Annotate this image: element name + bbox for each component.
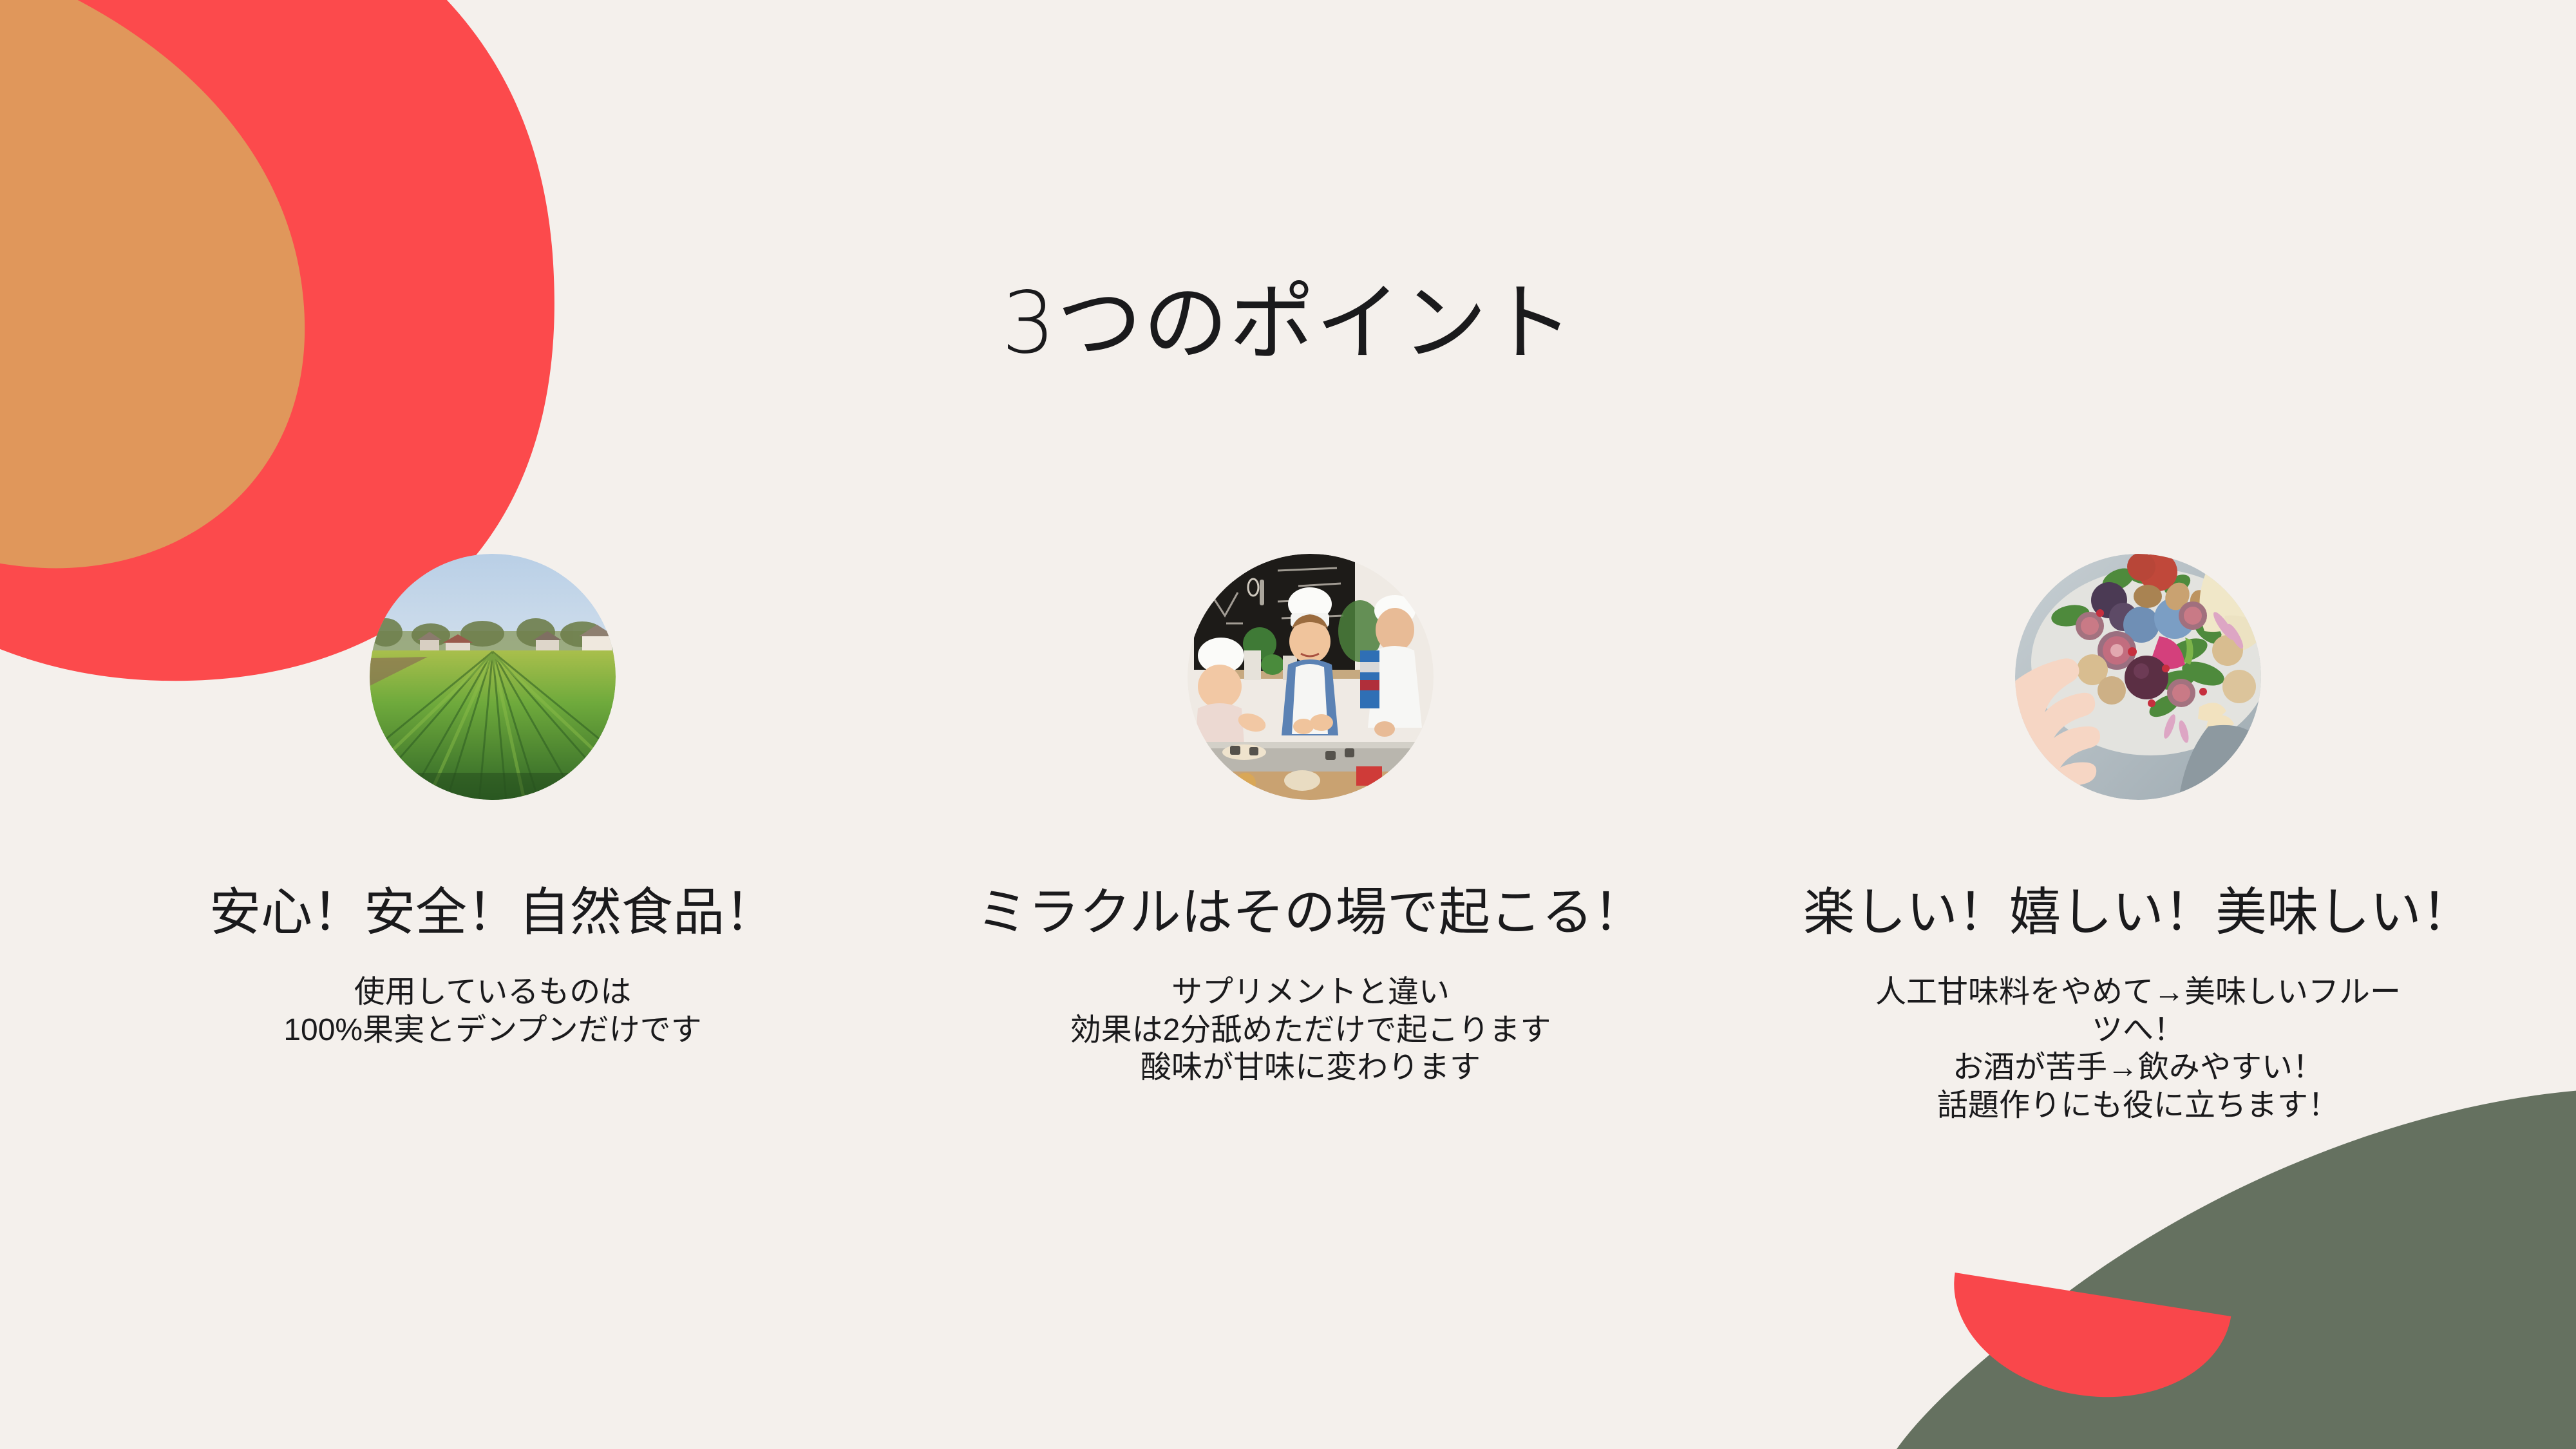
point-column-1: 安心！安全！自然食品！ 使用しているものは 100%果実とデンプンだけです <box>77 554 908 1049</box>
point-body-2: サプリメントと違い 効果は2分舐めただけで起こります 酸味が甘味に変わります <box>1070 974 1551 1087</box>
point-heading-1: 安心！安全！自然食品！ <box>209 882 776 943</box>
points-row: 安心！安全！自然食品！ 使用しているものは 100%果実とデンプンだけです <box>0 554 2576 1125</box>
point-body-line: 使用しているものは <box>283 974 701 1012</box>
children-baking-photo <box>1188 554 1434 800</box>
fruit-platter-photo <box>2015 554 2261 800</box>
point-heading-3: 楽しい！嬉しい！美味しい！ <box>1803 882 2473 943</box>
green-blob-icon <box>1880 1088 2576 1449</box>
point-body-line: 人工甘味料をやめて→美味しいフルー <box>1765 974 2512 1012</box>
red-dome-icon <box>1939 1273 2231 1416</box>
slide-canvas: 3つのポイント <box>0 0 2576 1449</box>
point-column-2: ミラクルはその場で起こる！ サプリメントと違い 効果は2分舐めただけで起こります… <box>908 554 1713 1087</box>
point-body-line: 話題作りにも役に立ちます！ <box>1765 1087 2512 1125</box>
point-body-line: サプリメントと違い <box>1070 974 1551 1012</box>
point-body-1: 使用しているものは 100%果実とデンプンだけです <box>283 974 701 1049</box>
point-heading-2: ミラクルはその場で起こる！ <box>976 882 1645 943</box>
page-title: 3つのポイント <box>0 270 2576 377</box>
point-body-line: お酒が苦手→飲みやすい！ <box>1765 1049 2512 1087</box>
point-body-line: ツへ！ <box>1765 1012 2512 1050</box>
point-body-line: 酸味が甘味に変わります <box>1070 1049 1551 1087</box>
point-body-line: 100%果実とデンプンだけです <box>283 1012 701 1050</box>
point-body-3: 人工甘味料をやめて→美味しいフルー ツへ！ お酒が苦手→飲みやすい！ 話題作りに… <box>1765 974 2512 1124</box>
point-body-line: 効果は2分舐めただけで起こります <box>1070 1012 1551 1050</box>
point-column-3: 楽しい！嬉しい！美味しい！ 人工甘味料をやめて→美味しいフルー ツへ！ お酒が苦… <box>1713 554 2563 1125</box>
farm-field-photo <box>370 554 616 800</box>
